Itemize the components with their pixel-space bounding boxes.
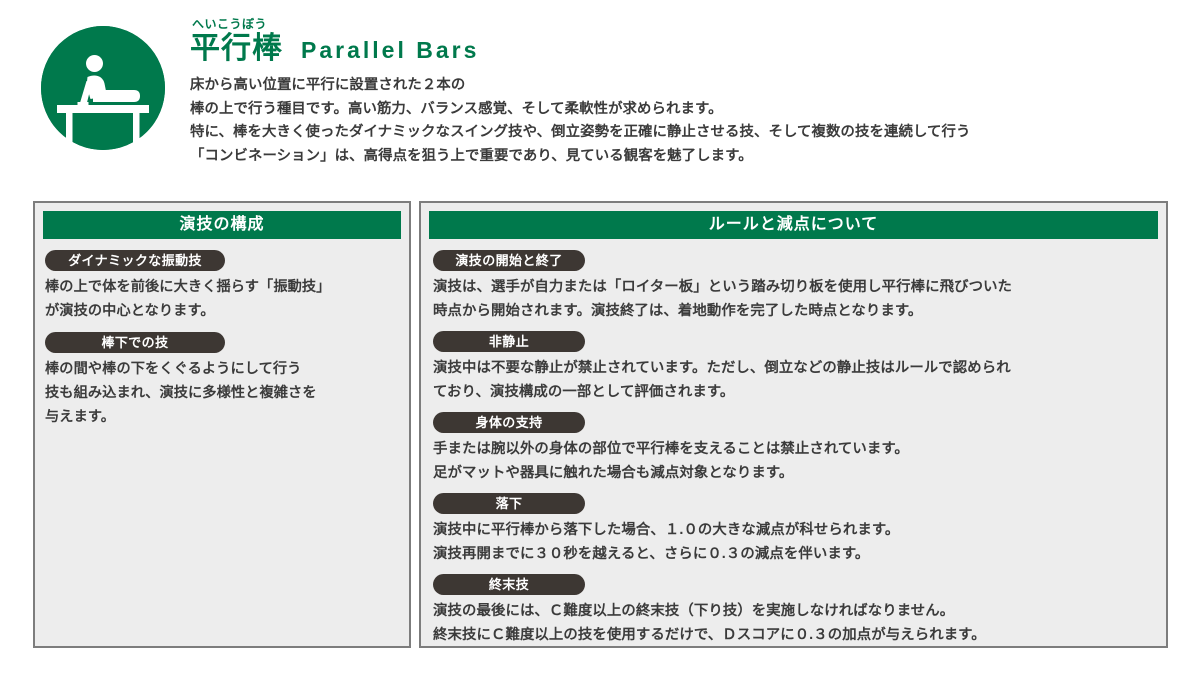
status-badge: 落下 xyxy=(433,493,585,514)
rule-block: 非静止 演技中は不要な静止が禁止されています。ただし、倒立などの静止技はルールで… xyxy=(433,331,1156,404)
text-line: 手または腕以外の身体の部位で平行棒を支えることは禁止されています。 xyxy=(433,437,1156,461)
title-row: 平行棒 Parallel Bars xyxy=(190,32,1190,67)
text-line: 演技の最後には、Ｃ難度以上の終末技（下り技）を実施しなければなりません。 xyxy=(433,599,1156,623)
status-badge: 棒下での技 xyxy=(45,332,225,353)
status-badge: 終末技 xyxy=(433,574,585,595)
composition-block: 棒下での技 棒の間や棒の下をくぐるようにして行う 技も組み込まれ、演技に多様性と… xyxy=(45,332,401,429)
rule-block: 終末技 演技の最後には、Ｃ難度以上の終末技（下り技）を実施しなければなりません。… xyxy=(433,574,1156,647)
header-text: へいこうぼう 平行棒 Parallel Bars 床から高い位置に平行に設置され… xyxy=(190,18,1190,168)
page-title-japanese: 平行棒 xyxy=(190,32,283,66)
title-furigana: へいこうぼう xyxy=(190,18,1190,32)
rules-and-deductions-panel: ルールと減点について 演技の開始と終了 演技は、選手が自力または「ロイター板」と… xyxy=(419,201,1168,648)
status-badge: 演技の開始と終了 xyxy=(433,250,585,271)
rule-text: 手または腕以外の身体の部位で平行棒を支えることは禁止されています。 足がマットや… xyxy=(433,437,1156,485)
text-line: 演技は、選手が自力または「ロイター板」という踏み切り板を使用し平行棒に飛びついた xyxy=(433,275,1156,299)
rule-text: 演技の最後には、Ｃ難度以上の終末技（下り技）を実施しなければなりません。 終末技… xyxy=(433,599,1156,647)
composition-text: 棒の上で体を前後に大きく揺らす「振動技」 が演技の中心となります。 xyxy=(45,275,401,323)
composition-text: 棒の間や棒の下をくぐるようにして行う 技も組み込まれ、演技に多様性と複雑さを 与… xyxy=(45,357,401,429)
text-line: 時点から開始されます。演技終了は、着地動作を完了した時点となります。 xyxy=(433,299,1156,323)
text-line: 棒の間や棒の下をくぐるようにして行う xyxy=(45,357,401,381)
status-badge: 身体の支持 xyxy=(433,412,585,433)
composition-block: ダイナミックな振動技 棒の上で体を前後に大きく揺らす「振動技」 が演技の中心とな… xyxy=(45,250,401,323)
text-line: 技も組み込まれ、演技に多様性と複雑さを xyxy=(45,381,401,405)
routine-composition-heading: 演技の構成 xyxy=(43,211,401,239)
text-line: 演技中に平行棒から落下した場合、１.０の大きな減点が科せられます。 xyxy=(433,518,1156,542)
page-title-english: Parallel Bars xyxy=(301,33,479,67)
rules-and-deductions-heading: ルールと減点について xyxy=(429,211,1158,239)
rules-and-deductions-body: 演技の開始と終了 演技は、選手が自力または「ロイター板」という踏み切り板を使用し… xyxy=(421,239,1166,665)
rule-text: 演技は、選手が自力または「ロイター板」という踏み切り板を使用し平行棒に飛びついた… xyxy=(433,275,1156,323)
rule-block: 身体の支持 手または腕以外の身体の部位で平行棒を支えることは禁止されています。 … xyxy=(433,412,1156,485)
text-line: 足がマットや器具に触れた場合も減点対象となります。 xyxy=(433,461,1156,485)
rule-text: 演技中に平行棒から落下した場合、１.０の大きな減点が科せられます。 演技再開まで… xyxy=(433,518,1156,566)
text-line: 与えます。 xyxy=(45,405,401,429)
parallel-bars-gymnast-icon xyxy=(41,26,165,150)
rule-block: 落下 演技中に平行棒から落下した場合、１.０の大きな減点が科せられます。 演技再… xyxy=(433,493,1156,566)
rule-block: 演技の開始と終了 演技は、選手が自力または「ロイター板」という踏み切り板を使用し… xyxy=(433,250,1156,323)
text-line: が演技の中心となります。 xyxy=(45,299,401,323)
text-line: ており、演技構成の一部として評価されます。 xyxy=(433,380,1156,404)
header: へいこうぼう 平行棒 Parallel Bars 床から高い位置に平行に設置され… xyxy=(0,0,1200,190)
status-badge: 非静止 xyxy=(433,331,585,352)
text-line: 演技中は不要な静止が禁止されています。ただし、倒立などの静止技はルールで認められ xyxy=(433,356,1156,380)
event-description: 床から高い位置に平行に設置された２本の 棒の上で行う種目です。高い筋力、バランス… xyxy=(190,74,1190,168)
text-line: 演技再開までに３０秒を越えると、さらに０.３の減点を伴います。 xyxy=(433,542,1156,566)
description-line: 床から高い位置に平行に設置された２本の xyxy=(190,74,1190,98)
status-badge: ダイナミックな振動技 xyxy=(45,250,225,271)
text-line: 棒の上で体を前後に大きく揺らす「振動技」 xyxy=(45,275,401,299)
description-line: 特に、棒を大きく使ったダイナミックなスイング技や、倒立姿勢を正確に静止させる技、… xyxy=(190,121,1190,145)
infographic-page: へいこうぼう 平行棒 Parallel Bars 床から高い位置に平行に設置され… xyxy=(0,0,1200,675)
description-line: 棒の上で行う種目です。高い筋力、バランス感覚、そして柔軟性が求められます。 xyxy=(190,98,1190,122)
routine-composition-body: ダイナミックな振動技 棒の上で体を前後に大きく揺らす「振動技」 が演技の中心とな… xyxy=(35,239,409,448)
rule-text: 演技中は不要な静止が禁止されています。ただし、倒立などの静止技はルールで認められ… xyxy=(433,356,1156,404)
description-line: 「コンビネーション」は、高得点を狙う上で重要であり、見ている観客を魅了します。 xyxy=(190,145,1190,169)
text-line: 終末技にＣ難度以上の技を使用するだけで、Ｄスコアに０.３の加点が与えられます。 xyxy=(433,623,1156,647)
routine-composition-panel: 演技の構成 ダイナミックな振動技 棒の上で体を前後に大きく揺らす「振動技」 が演… xyxy=(33,201,411,648)
